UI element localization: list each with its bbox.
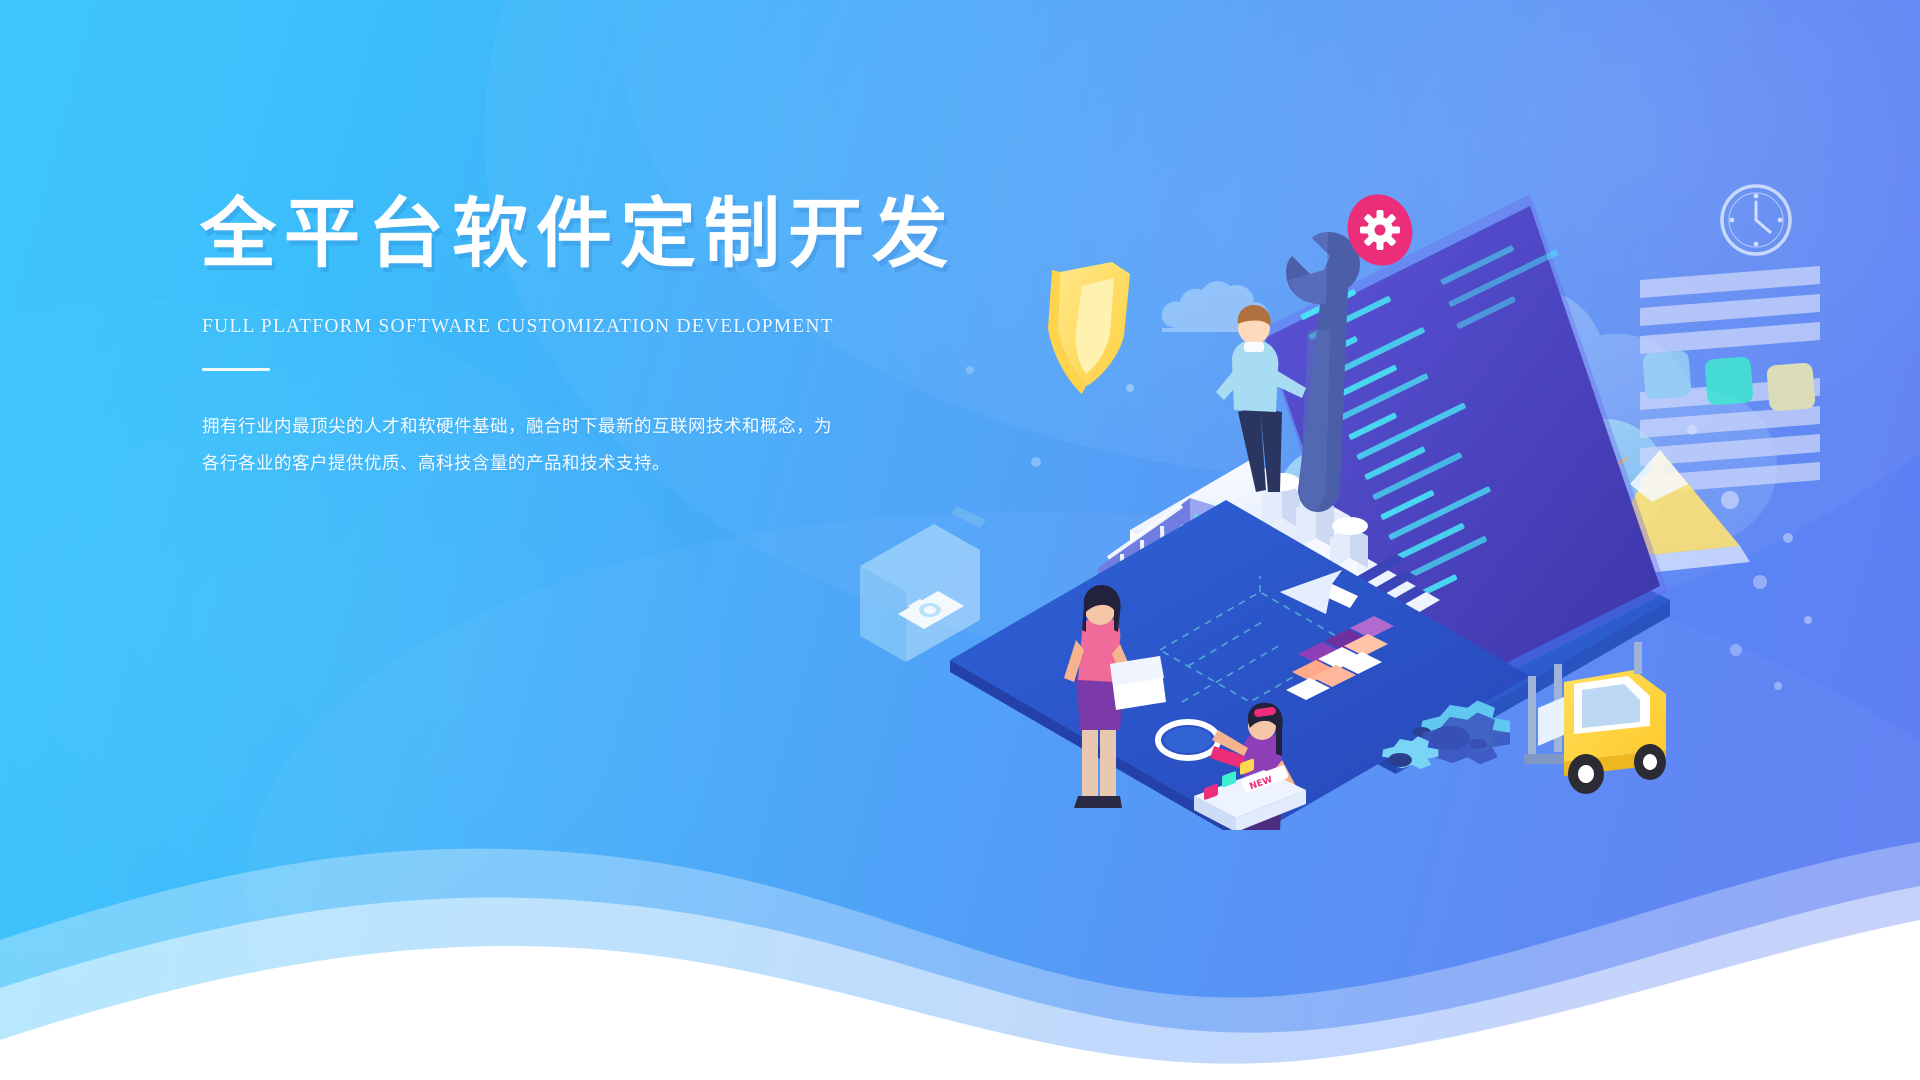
camera-icon [860,506,986,662]
hero-banner: NEW 全平台软件定制开发 FULL PLATFORM SOF [0,0,1920,1080]
page-subtitle: FULL PLATFORM SOFTWARE CUSTOMIZATION DEV… [202,316,900,338]
page-title: 全平台软件定制开发 [200,196,900,272]
title-divider [202,368,270,371]
clock-icon [1722,186,1790,254]
hero-illustration: NEW [830,130,1920,830]
bottom-wave-decoration [0,820,1920,1080]
hero-copy: 全平台软件定制开发 FULL PLATFORM SOFTWARE CUSTOMI… [200,196,900,483]
shield-icon [1048,262,1130,394]
hero-description: 拥有行业内最顶尖的人才和软硬件基础，融合时下最新的互联网技术和概念，为各行各业的… [202,409,847,483]
document-panel [1640,186,1820,494]
